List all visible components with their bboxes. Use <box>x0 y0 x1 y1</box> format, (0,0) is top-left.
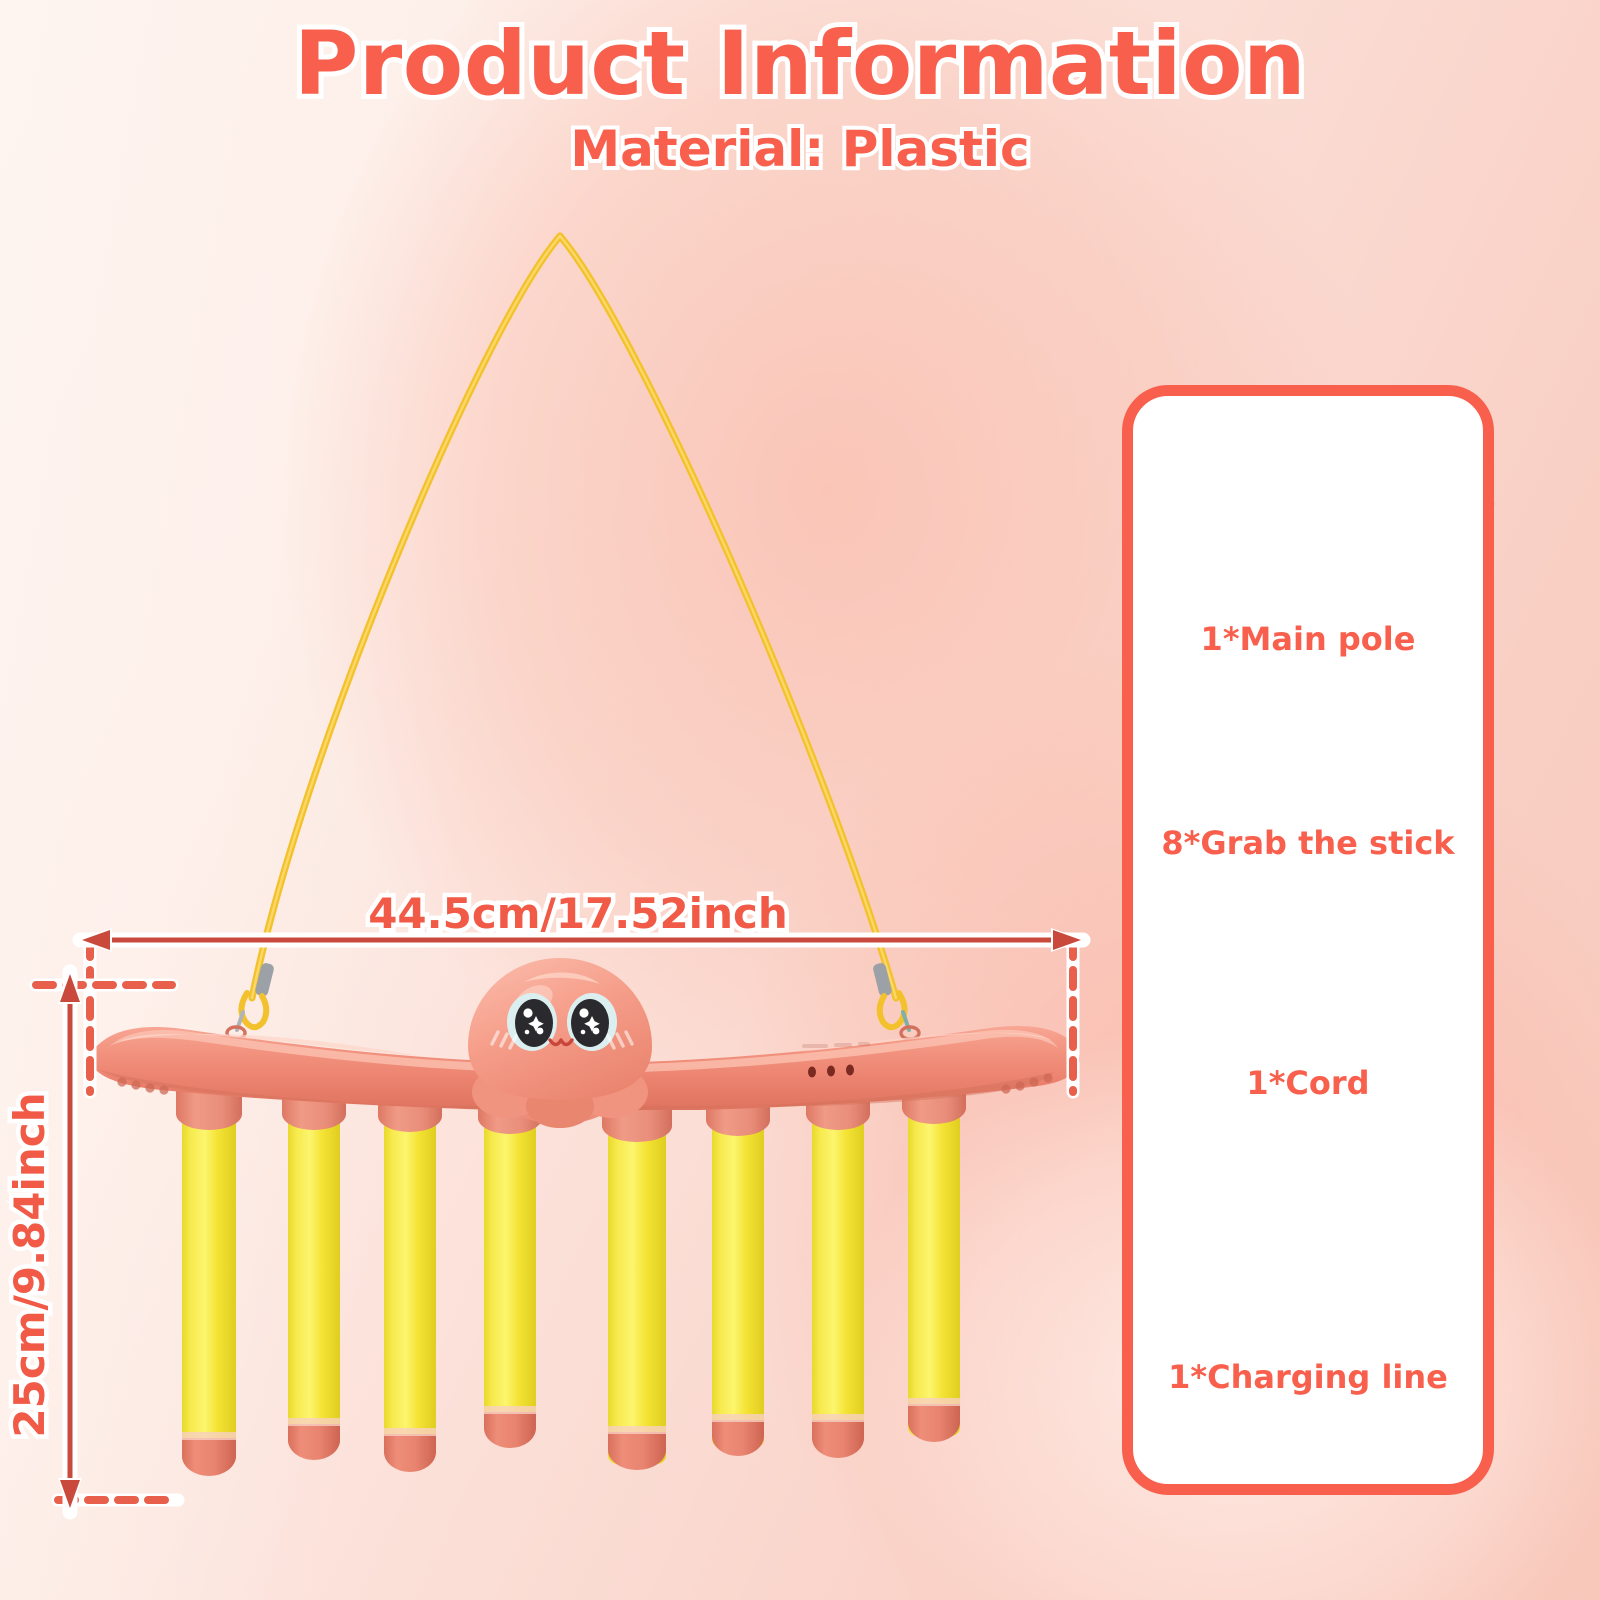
panel-item-grab-stick: 8*Grab the stick <box>1133 716 1483 862</box>
panel-item-charging-line: 1*Charging line <box>1133 1196 1483 1396</box>
height-dimension-label: 25cm/9.84inch <box>5 1092 54 1437</box>
charging-line-art-slot <box>1133 1196 1483 1346</box>
grab-stick-art-slot <box>1133 716 1483 812</box>
hanging-cord <box>252 236 896 998</box>
main-pole <box>91 958 1080 1142</box>
cord-art-slot <box>1133 956 1483 1052</box>
grab-sticks <box>182 1106 960 1476</box>
panel-item-main-pole: 1*Main pole <box>1133 458 1483 658</box>
panel-item-cord: 1*Cord <box>1133 956 1483 1102</box>
panel-label-cord: 1*Cord <box>1133 1064 1483 1102</box>
panel-label-charging-line: 1*Charging line <box>1133 1358 1483 1396</box>
panel-label-grab-stick: 8*Grab the stick <box>1133 824 1483 862</box>
component-list-panel: 1*Main pole 8*Grab the stick 1*Cord 1*Ch… <box>1122 385 1494 1495</box>
octopus-head <box>468 958 652 1128</box>
width-dimension-label: 44.5cm/17.52inch <box>368 889 788 938</box>
main-pole-art-slot <box>1133 458 1483 608</box>
panel-label-main-pole: 1*Main pole <box>1133 620 1483 658</box>
